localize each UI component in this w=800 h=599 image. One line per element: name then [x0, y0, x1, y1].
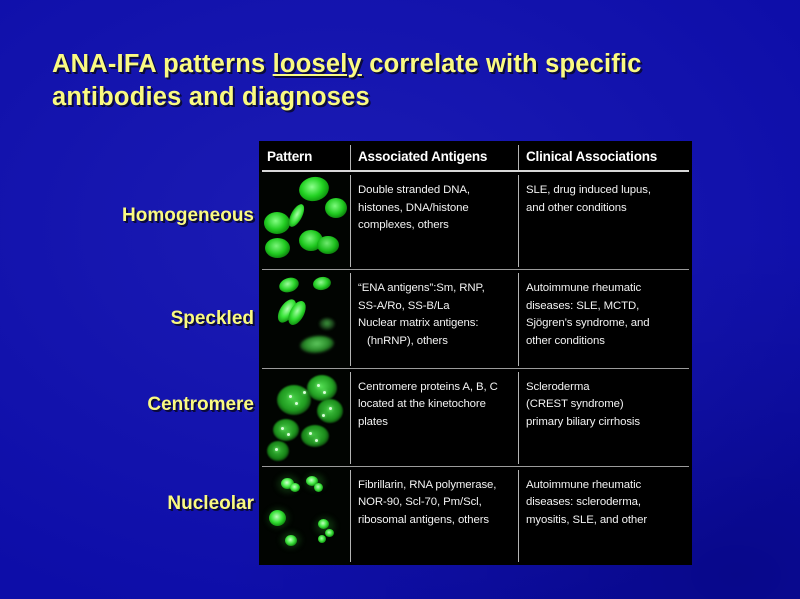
clinical-cell: SLE, drug induced lupus, and other condi…: [518, 172, 692, 270]
antigens-line: SS-A/Ro, SS-B/La: [358, 298, 511, 316]
clinical-line: and other conditions: [526, 200, 685, 218]
antigens-line: ribosomal antigens, others: [358, 512, 511, 530]
clinical-line: Autoimmune rheumatic: [526, 477, 685, 495]
clinical-cell: Autoimmune rheumatic diseases: SLE, MCTD…: [518, 270, 692, 368]
antigens-line: plates: [358, 414, 511, 432]
column-header-antigens: Associated Antigens: [350, 141, 518, 172]
column-header-pattern: Pattern: [259, 141, 350, 172]
page-title-part1: ANA-IFA patterns: [52, 50, 273, 78]
column-header-clinical: Clinical Associations: [518, 141, 692, 172]
clinical-line: diseases: SLE, MCTD,: [526, 298, 685, 316]
ifa-homogeneous-micrograph: [259, 172, 350, 270]
table-row: Centromere proteins A, B, C located at t…: [259, 369, 692, 467]
pattern-image-cell: [259, 172, 350, 270]
clinical-line: diseases: scleroderma,: [526, 494, 685, 512]
pattern-image-cell: [259, 369, 350, 467]
antigens-line: Fibrillarin, RNA polymerase,: [358, 477, 511, 495]
antigens-line: located at the kinetochore: [358, 396, 511, 414]
clinical-line: Scleroderma: [526, 379, 685, 397]
pattern-image-cell: [259, 467, 350, 565]
clinical-line: primary biliary cirrhosis: [526, 414, 685, 432]
pattern-label-centromere: Centromere: [0, 394, 254, 416]
antigens-line: “ENA antigens”:Sm, RNP,: [358, 280, 511, 298]
antigens-line: complexes, others: [358, 217, 511, 235]
antigens-line: Centromere proteins A, B, C: [358, 379, 511, 397]
antigens-line: (hnRNP), others: [358, 333, 511, 351]
antigens-cell: Centromere proteins A, B, C located at t…: [350, 369, 518, 467]
antigens-cell: Fibrillarin, RNA polymerase, NOR-90, Scl…: [350, 467, 518, 565]
clinical-line: myositis, SLE, and other: [526, 512, 685, 530]
ifa-nucleolar-micrograph: [259, 467, 350, 565]
table-header-row: Pattern Associated Antigens Clinical Ass…: [259, 141, 692, 172]
clinical-cell: Autoimmune rheumatic diseases: scleroder…: [518, 467, 692, 565]
antigens-line: Double stranded DNA,: [358, 182, 511, 200]
ifa-speckled-micrograph: [259, 270, 350, 368]
antigens-line: NOR-90, Scl-70, Pm/Scl,: [358, 494, 511, 512]
ana-ifa-pattern-table: Pattern Associated Antigens Clinical Ass…: [259, 141, 692, 565]
clinical-cell: Scleroderma (CREST syndrome) primary bil…: [518, 369, 692, 467]
antigens-line: Nuclear matrix antigens:: [358, 315, 511, 333]
antigens-cell: “ENA antigens”:Sm, RNP, SS-A/Ro, SS-B/La…: [350, 270, 518, 368]
clinical-line: (CREST syndrome): [526, 396, 685, 414]
antigens-cell: Double stranded DNA, histones, DNA/histo…: [350, 172, 518, 270]
table-row: “ENA antigens”:Sm, RNP, SS-A/Ro, SS-B/La…: [259, 270, 692, 368]
pattern-image-cell: [259, 270, 350, 368]
clinical-line: Sjögren’s syndrome, and: [526, 315, 685, 333]
antigens-line: histones, DNA/histone: [358, 200, 511, 218]
table-row: Fibrillarin, RNA polymerase, NOR-90, Scl…: [259, 467, 692, 565]
page-title: ANA-IFA patterns loosely correlate with …: [52, 48, 752, 114]
clinical-line: Autoimmune rheumatic: [526, 280, 685, 298]
ifa-centromere-micrograph: [259, 369, 350, 467]
page-title-emphasis: loosely: [273, 50, 362, 78]
clinical-line: SLE, drug induced lupus,: [526, 182, 685, 200]
table-row: Double stranded DNA, histones, DNA/histo…: [259, 172, 692, 270]
pattern-label-homogeneous: Homogeneous: [0, 205, 254, 227]
pattern-label-speckled: Speckled: [0, 308, 254, 330]
pattern-label-nucleolar: Nucleolar: [0, 493, 254, 515]
clinical-line: other conditions: [526, 333, 685, 351]
